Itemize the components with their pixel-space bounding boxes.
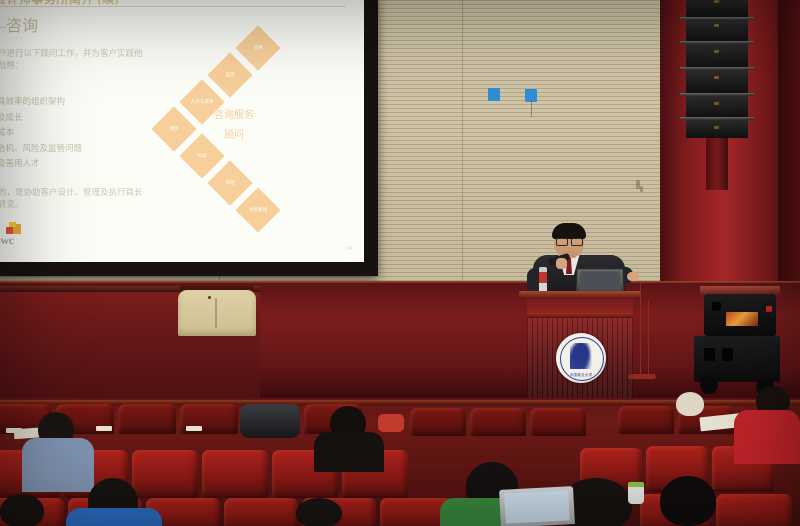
list-item: 创新及成长 (0, 110, 170, 126)
backpack (240, 404, 300, 438)
speaker-hair (552, 223, 586, 239)
projection-screen-frame: 普华永道会计师事务所简介 (续) 服务—咨询 顾问 我们为客户进行以下顾问工作，… (0, 0, 378, 276)
speaker-mount-stem (706, 136, 728, 190)
list-item: 处理危机、风险及监管问题 (0, 141, 170, 157)
red-bag (378, 414, 404, 432)
monitor-power-led (766, 306, 772, 312)
seat (202, 450, 268, 498)
diagram-center-label-1: 咨询服务 (214, 108, 254, 124)
audio-cable (648, 300, 649, 378)
pwc-logo: pwc (0, 222, 42, 248)
speaker-left-hand (556, 258, 567, 269)
list-item: 建立具效率的组织架构 (0, 94, 170, 110)
monitor-handle (722, 348, 733, 361)
slide-heading: 服务—咨询 (0, 12, 218, 36)
diagram-node: 并购重组 (235, 187, 280, 232)
cable-pool (628, 374, 656, 379)
presenter-chair (178, 290, 256, 336)
projection-screen: 普华永道会计师事务所简介 (续) 服务—咨询 顾问 我们为客户进行以下顾问工作，… (0, 0, 364, 262)
lecture-hall-photo: 普华永道会计师事务所简介 (续) 服务—咨询 顾问 我们为客户进行以下顾问工作，… (0, 0, 800, 526)
seat (224, 498, 298, 526)
slide-page-number: 34 (346, 246, 352, 252)
seat (618, 406, 674, 434)
seat (118, 404, 176, 434)
chair-button (208, 296, 211, 299)
seat (530, 408, 586, 436)
wall-fixture-blue (488, 88, 500, 101)
line-array-speaker (686, 0, 748, 138)
diagram-node-label: 科技 (189, 153, 215, 159)
seat (132, 450, 198, 498)
seat-number-tag (96, 426, 112, 431)
list-item: 提拔及善用人才 (0, 156, 170, 172)
audience-laptop (499, 486, 575, 526)
wall-blemish (640, 186, 643, 192)
list-item: 节省成本 (0, 125, 170, 141)
slide-title-rule (0, 6, 346, 7)
wall-fixture-cable (531, 101, 532, 117)
laptop-screen (580, 271, 621, 290)
slide-closing-paragraph: 我们的目的，是协助客户设计、管理及执行具长远益处的转变。 (0, 186, 146, 210)
slide-intro-paragraph: 我们为客户进行以下顾问工作，并为客户实践他们的商业战略： (0, 47, 146, 71)
drink-cup (628, 482, 644, 504)
monitor-grill (726, 312, 758, 326)
pwc-logo-text: pwc (0, 233, 14, 248)
seat (410, 408, 466, 436)
monitor-caster (700, 376, 718, 394)
diagram-node-label: 风险 (217, 180, 243, 186)
speaker-right-hand (627, 272, 639, 281)
speaker-glasses (556, 238, 582, 244)
diagram-center-label-2: 顾问 (224, 128, 244, 144)
audio-cable (640, 282, 641, 378)
slide-bullet-list: 建立具效率的组织架构 创新及成长 节省成本 处理危机、风险及监管问题 提拔及善用… (0, 94, 170, 172)
seat (470, 408, 526, 436)
university-emblem: 中国政法大学 (556, 333, 606, 383)
diagram-node-label: 战略 (245, 45, 271, 51)
diagram-node-label: 并购重组 (245, 207, 271, 213)
seat (716, 494, 792, 526)
monitor-handle (704, 348, 715, 361)
seat-number-tag (186, 426, 202, 431)
emblem-crest-icon (570, 343, 592, 369)
emblem-text: 中国政法大学 (556, 373, 606, 378)
diagram-node-label: 财务 (161, 126, 187, 132)
diagram-node-label: 运营 (217, 72, 243, 78)
presentation-slide: 普华永道会计师事务所简介 (续) 服务—咨询 顾问 我们为客户进行以下顾问工作，… (0, 0, 364, 262)
diagram-node-label: 人才与变革 (189, 99, 215, 105)
monitor-handle (712, 302, 721, 311)
